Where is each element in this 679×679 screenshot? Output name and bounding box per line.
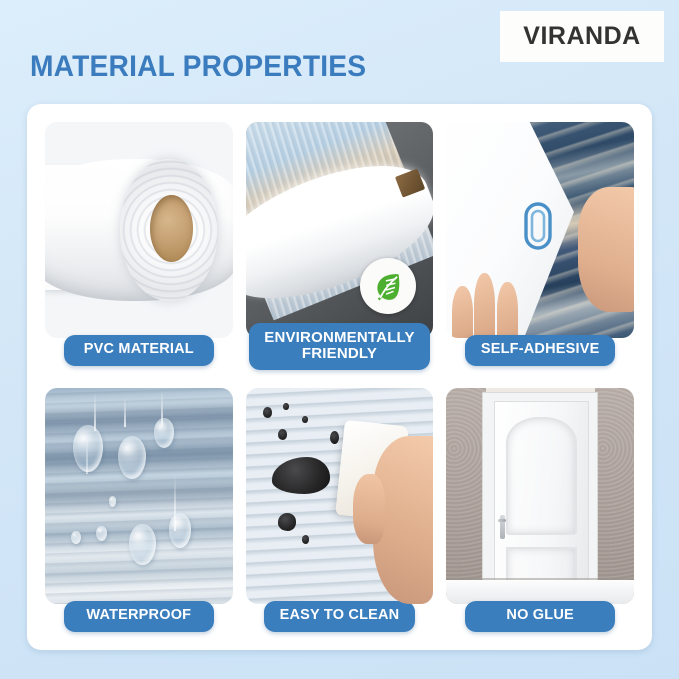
card-label: SELF-ADHESIVE [465,335,615,366]
stain-smear [272,457,330,494]
thumb-shape [353,474,385,543]
white-door-photo [446,388,634,604]
water-droplets-photo [45,388,233,604]
pvc-roll-photo [45,122,233,338]
card-label: ENVIRONMENTALLY FRIENDLY [249,323,429,370]
finger-shape [497,282,518,338]
water-droplet [73,425,103,473]
stain-mark [302,535,310,544]
water-trail [124,397,126,427]
water-droplet [109,496,117,507]
water-trail [94,392,96,431]
stain-mark [278,513,297,530]
feature-card-no-glue: NO GLUE [446,380,634,638]
door-handle [500,515,505,539]
feature-card-self-adhesive: SELF-ADHESIVE [446,114,634,372]
water-droplet [71,531,80,544]
feature-card-environmentally-friendly: ENVIRONMENTALLY FRIENDLY [246,114,434,372]
stain-mark [283,403,289,409]
wall-right-shape [595,388,634,604]
brand-name: VIRANDA [523,22,640,51]
card-label: WATERPROOF [64,601,214,632]
card-label: EASY TO CLEAN [264,601,414,632]
leaf-icon [371,269,405,303]
stain-mark [278,429,287,440]
card-label-line-2: FRIENDLY [302,345,377,362]
door-shape [494,401,589,604]
stain-mark [302,416,308,422]
stain-mark [263,407,272,418]
water-droplet [118,436,146,479]
card-label-line-1: ENVIRONMENTALLY [264,329,415,346]
peel-backing-photo [446,122,634,338]
brand-logo: VIRANDA [500,11,664,62]
wall-left-shape [446,388,485,604]
product-infographic: VIRANDA MATERIAL PROPERTIES PVC MATERIAL [0,0,679,679]
page-title: MATERIAL PROPERTIES [30,50,366,84]
feature-card-pvc-material: PVC MATERIAL [45,114,233,372]
feature-grid: PVC MATERIAL [45,114,634,638]
eco-badge [360,258,416,314]
card-label: NO GLUE [465,601,615,632]
water-droplet [96,526,107,541]
stain-mark [330,431,339,444]
feature-card-waterproof: WATERPROOF [45,380,233,638]
finger-shape [474,273,495,338]
feature-panel: PVC MATERIAL [27,104,652,650]
card-label: PVC MATERIAL [64,335,214,366]
water-droplet [169,513,192,548]
right-hand-shape [578,187,634,312]
feature-card-easy-to-clean: EASY TO CLEAN [246,380,434,638]
door-frame-shape [482,392,598,604]
finger-shape [452,286,473,338]
eco-rolled-print-photo [246,122,434,338]
paperclip-icon [521,200,555,252]
door-panel-top [506,417,577,535]
wipe-stain-photo [246,388,434,604]
water-droplet [154,418,175,448]
water-droplet [129,524,155,565]
